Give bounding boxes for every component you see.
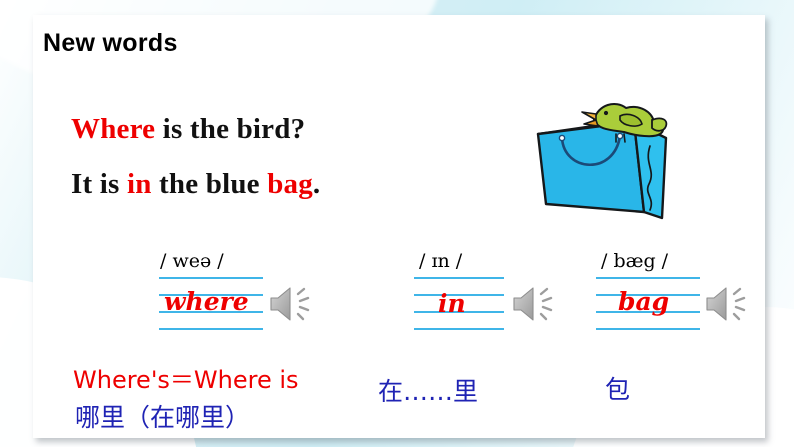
sentence-1-rest: is the bird? (155, 113, 305, 145)
white-content-card: New words Where is the bird? It is in th… (33, 15, 765, 438)
guide-line (159, 277, 263, 279)
phonetic-in: / ɪn / (405, 247, 580, 275)
word-card-where[interactable]: / weə / where (128, 247, 328, 333)
sentence-2-part-1: It is (71, 168, 127, 200)
blue-bag-with-bird-illustration (516, 90, 706, 230)
sentence-1-keyword: Where (71, 113, 155, 145)
writing-row-where: where (128, 275, 328, 333)
guide-line (596, 328, 700, 330)
example-sentence-2: It is in the blue bag. (71, 168, 320, 201)
where-contraction-note: Where's＝Where is (73, 360, 299, 395)
speaker-icon[interactable] (269, 283, 315, 325)
sentence-2-keyword-in: in (127, 168, 152, 200)
speaker-icon[interactable] (705, 283, 751, 325)
page-title: New words (43, 29, 178, 58)
sentence-2-part-2: the blue (152, 168, 268, 200)
writing-row-bag: bag (591, 275, 771, 333)
slide-canvas: New words Where is the bird? It is in th… (0, 0, 794, 447)
guide-line (596, 277, 700, 279)
guide-line (159, 328, 263, 330)
speaker-icon[interactable] (512, 283, 558, 325)
spelling-in: in (438, 291, 466, 316)
word-card-bag[interactable]: / bæg / bag (591, 247, 771, 333)
sentence-2-keyword-bag: bag (267, 168, 313, 200)
bag-chinese-meaning: 包 (605, 370, 630, 406)
spelling-bag: bag (618, 289, 669, 314)
writing-row-in: in (405, 275, 580, 333)
where-chinese-meaning: 哪里（在哪里） (75, 398, 250, 434)
word-card-in[interactable]: / ɪn / in (405, 247, 580, 333)
guide-line (414, 277, 504, 279)
in-chinese-meaning: 在……里 (378, 372, 478, 408)
phonetic-where: / weə / (128, 247, 328, 275)
example-sentence-1: Where is the bird? (71, 113, 305, 146)
spelling-where: where (164, 289, 249, 314)
sentence-2-period: . (313, 168, 320, 200)
phonetic-bag: / bæg / (591, 247, 771, 275)
guide-line (414, 328, 504, 330)
